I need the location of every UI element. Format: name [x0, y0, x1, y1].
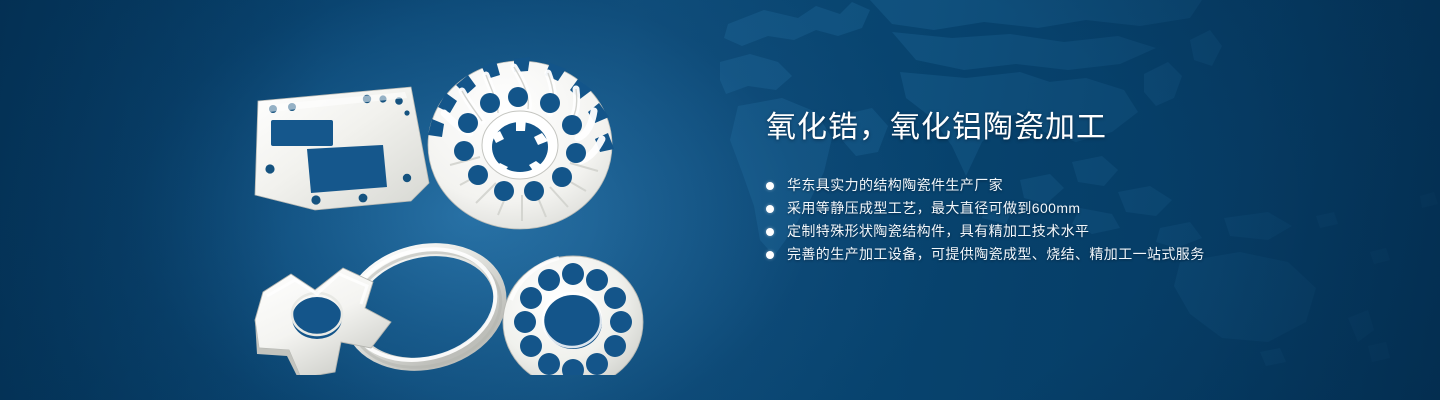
ceramic-impeller [428, 57, 614, 229]
ceramic-plate [255, 87, 429, 210]
feature-text: 华东具实力的结构陶瓷件生产厂家 [787, 174, 1003, 197]
list-item: 华东具实力的结构陶瓷件生产厂家 [766, 174, 1366, 197]
feature-text: 定制特殊形状陶瓷结构件，具有精加工技术水平 [787, 220, 1089, 243]
feature-text: 采用等静压成型工艺，最大直径可做到600mm [787, 197, 1080, 220]
feature-text: 完善的生产加工设备，可提供陶瓷成型、烧结、精加工一站式服务 [787, 243, 1205, 266]
product-photo-cluster [215, 35, 735, 375]
banner-copy: 氧化锆，氧化铝陶瓷加工 华东具实力的结构陶瓷件生产厂家 采用等静压成型工艺，最大… [766, 108, 1366, 266]
bullet-icon [766, 182, 774, 190]
list-item: 定制特殊形状陶瓷结构件，具有精加工技术水平 [766, 220, 1366, 243]
ceramic-perforated-disc [503, 256, 643, 375]
hero-banner: 氧化锆，氧化铝陶瓷加工 华东具实力的结构陶瓷件生产厂家 采用等静压成型工艺，最大… [0, 0, 1440, 400]
bullet-icon [766, 228, 774, 236]
list-item: 采用等静压成型工艺，最大直径可做到600mm [766, 197, 1366, 220]
bullet-icon [766, 251, 774, 259]
page-title: 氧化锆，氧化铝陶瓷加工 [766, 108, 1366, 148]
list-item: 完善的生产加工设备，可提供陶瓷成型、烧结、精加工一站式服务 [766, 243, 1366, 266]
bullet-icon [766, 205, 774, 213]
feature-list: 华东具实力的结构陶瓷件生产厂家 采用等静压成型工艺，最大直径可做到600mm 定… [766, 174, 1366, 266]
